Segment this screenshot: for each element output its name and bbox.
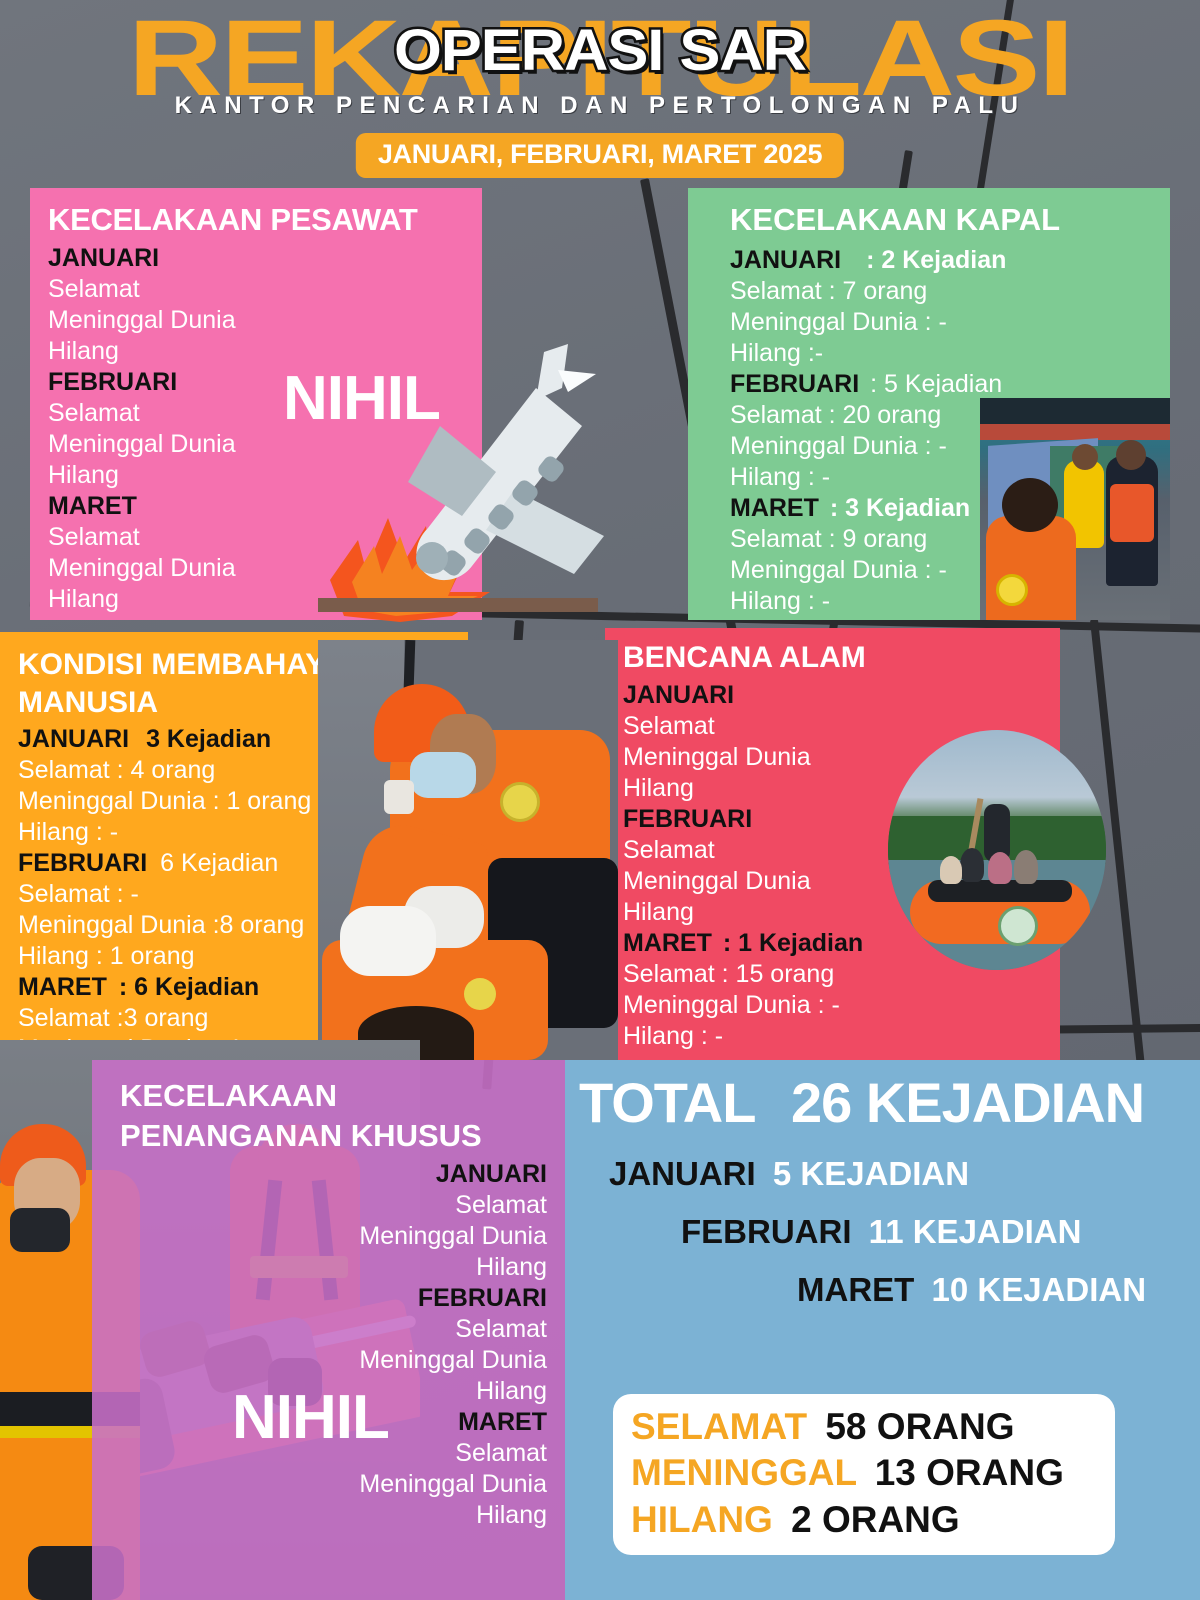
photo-boat-rescue	[980, 398, 1170, 620]
photo-flood-raft-rescue	[888, 730, 1106, 970]
poster-header: REKAPITULASI OPERASI SAR KANTOR PENCARIA…	[0, 0, 1200, 180]
summary-value: 13 ORANG	[867, 1452, 1064, 1493]
photo-cpr-rescuer	[318, 640, 618, 1060]
total-month-februari: FEBRUARI 11 KEJADIAN	[565, 1193, 1200, 1251]
stat-row: Selamat	[48, 274, 482, 305]
summary-label: SELAMAT	[631, 1406, 807, 1447]
month-count: : 3 Kejadian	[826, 494, 970, 522]
month-value: 10 KEJADIAN	[924, 1271, 1147, 1308]
card-title-kapal: KECELAKAAN KAPAL	[688, 188, 1170, 245]
summary-value: 58 ORANG	[817, 1406, 1014, 1447]
month-label: MARET	[623, 929, 712, 957]
card-total-summary: TOTAL 26 KEJADIAN JANUARI 5 KEJADIAN FEB…	[565, 1060, 1200, 1600]
summary-hilang: HILANG 2 ORANG	[631, 1497, 1101, 1543]
total-month-maret: MARET 10 KEJADIAN	[565, 1251, 1200, 1309]
month-label: FEBRUARI	[92, 1283, 547, 1314]
summary-label: HILANG	[631, 1499, 773, 1540]
nihil-label-khusus: NIHIL	[232, 1382, 389, 1453]
stat-row: Meninggal Dunia	[92, 1345, 547, 1376]
period-badge: JANUARI, FEBRUARI, MARET 2025	[356, 133, 844, 178]
stat-row: Selamat : 7 orang	[730, 276, 1170, 307]
stat-row: Hilang : -	[623, 1021, 1060, 1052]
month-label: JANUARI	[609, 1155, 756, 1192]
title-operasi-sar: OPERASI SAR	[394, 22, 806, 80]
month-label: JANUARI	[92, 1159, 547, 1190]
ground-bar	[318, 598, 598, 612]
card-lines-khusus: JANUARI Selamat Meninggal Dunia Hilang F…	[92, 1159, 565, 1531]
month-count: : 1 Kejadian	[719, 929, 863, 957]
stat-row: Meninggal Dunia	[92, 1469, 547, 1500]
total-value: 26 KEJADIAN	[769, 1071, 1144, 1134]
summary-box: SELAMAT 58 ORANG MENINGGAL 13 ORANG HILA…	[613, 1394, 1115, 1555]
month-value: 5 KEJADIAN	[765, 1155, 969, 1192]
month-label: FEBRUARI	[18, 849, 147, 877]
card-kecelakaan-penanganan-khusus: KECELAKAAN PENANGANAN KHUSUS JANUARI Sel…	[92, 1060, 565, 1600]
month-row: JANUARI : 2 Kejadian	[730, 245, 1170, 276]
stat-row: Meninggal Dunia : -	[730, 307, 1170, 338]
month-label: FEBRUARI	[730, 370, 859, 398]
month-count: : 6 Kejadian	[114, 973, 259, 1001]
month-count: : 2 Kejadian	[848, 246, 1006, 274]
stat-row: Selamat	[92, 1314, 547, 1345]
summary-value: 2 ORANG	[783, 1499, 960, 1540]
summary-label: MENINGGAL	[631, 1452, 856, 1493]
card-title-khusus: KECELAKAAN PENANGANAN KHUSUS	[92, 1060, 565, 1159]
stat-row: Hilang	[92, 1252, 547, 1283]
month-value: 11 KEJADIAN	[861, 1213, 1082, 1250]
month-count: 6 Kejadian	[154, 849, 278, 877]
month-row: FEBRUARI : 5 Kejadian	[730, 369, 1170, 400]
month-label: MARET	[730, 494, 819, 522]
month-label: JANUARI	[18, 725, 129, 753]
stat-row: Meninggal Dunia	[92, 1221, 547, 1252]
total-heading: TOTAL 26 KEJADIAN	[565, 1060, 1200, 1135]
month-label: JANUARI	[623, 680, 1060, 711]
stat-row: Hilang	[92, 1500, 547, 1531]
month-count: : 5 Kejadian	[866, 370, 1002, 398]
nihil-label-pesawat: NIHIL	[283, 363, 440, 434]
month-label: JANUARI	[730, 246, 841, 274]
card-title-line1: KECELAKAAN	[110, 1076, 547, 1116]
stat-row: Meninggal Dunia : -	[623, 990, 1060, 1021]
total-label: TOTAL	[579, 1071, 754, 1134]
summary-selamat: SELAMAT 58 ORANG	[631, 1404, 1101, 1450]
infographic-poster: REKAPITULASI OPERASI SAR KANTOR PENCARIA…	[0, 0, 1200, 1600]
month-label: MARET	[18, 973, 107, 1001]
stat-row: Selamat	[92, 1190, 547, 1221]
card-title-line2: PENANGANAN KHUSUS	[110, 1116, 547, 1156]
month-count: 3 Kejadian	[136, 725, 271, 753]
card-title-pesawat: KECELAKAAN PESAWAT	[30, 188, 482, 243]
summary-meninggal: MENINGGAL 13 ORANG	[631, 1450, 1161, 1496]
month-label: MARET	[797, 1271, 914, 1308]
total-month-januari: JANUARI 5 KEJADIAN	[565, 1135, 1200, 1193]
stat-row: Hilang :-	[730, 338, 1170, 369]
month-label: JANUARI	[48, 243, 482, 274]
subtitle-kantor: KANTOR PENCARIAN DAN PERTOLONGAN PALU	[175, 92, 1026, 120]
month-label: FEBRUARI	[681, 1213, 852, 1250]
card-title-bencana: BENCANA ALAM	[605, 628, 1060, 680]
